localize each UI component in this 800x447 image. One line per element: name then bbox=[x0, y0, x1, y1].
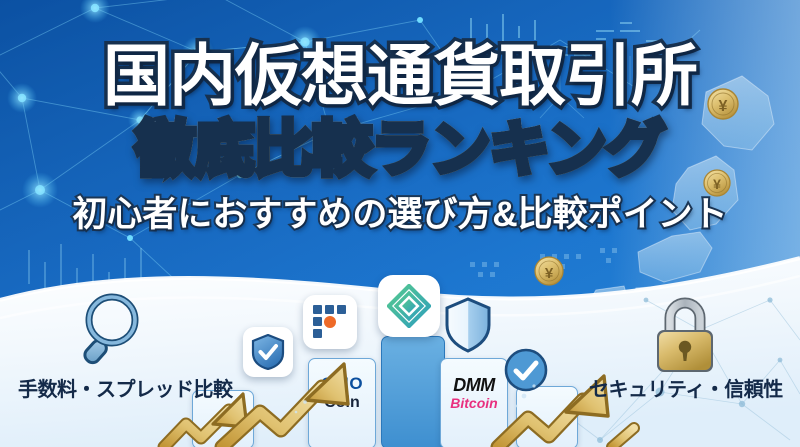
dmm-logo-top: DMM bbox=[441, 376, 507, 395]
coincheck-logo-card[interactable] bbox=[378, 275, 440, 337]
bitflyer-logo-icon bbox=[312, 304, 348, 340]
crypto-exchange-ranking-banner: ¥ ¥ ¥ ¥ 国内仮想通貨取引所 徹底比較ランキング 初心者におすすめの選び方… bbox=[0, 0, 800, 447]
bar-column-5 bbox=[516, 386, 578, 447]
shield-check-icon bbox=[251, 334, 285, 370]
shield-check-card[interactable] bbox=[243, 327, 293, 377]
growth-arrow-far-right bbox=[612, 428, 634, 447]
check-circle-icon bbox=[503, 347, 549, 393]
bar-column-gmo: GMO Coin bbox=[308, 358, 376, 447]
lock-icon bbox=[648, 292, 722, 376]
dmm-logo-bottom: Bitcoin bbox=[441, 396, 507, 411]
bitflyer-logo-card[interactable] bbox=[303, 295, 357, 349]
gmo-logo-bottom: Coin bbox=[309, 395, 375, 412]
shield-outline-icon bbox=[443, 297, 493, 353]
coincheck-diamond-icon bbox=[387, 284, 431, 328]
gmo-logo-top: GMO bbox=[309, 375, 375, 393]
bar-column-dmm: DMM Bitcoin bbox=[440, 358, 508, 447]
feature-label-fees: 手数料・スプレッド比較 bbox=[18, 373, 233, 402]
magnifier-icon bbox=[78, 288, 160, 372]
feature-label-security: セキュリティ・信頼性 bbox=[589, 373, 783, 402]
bar-column-center bbox=[381, 336, 445, 447]
